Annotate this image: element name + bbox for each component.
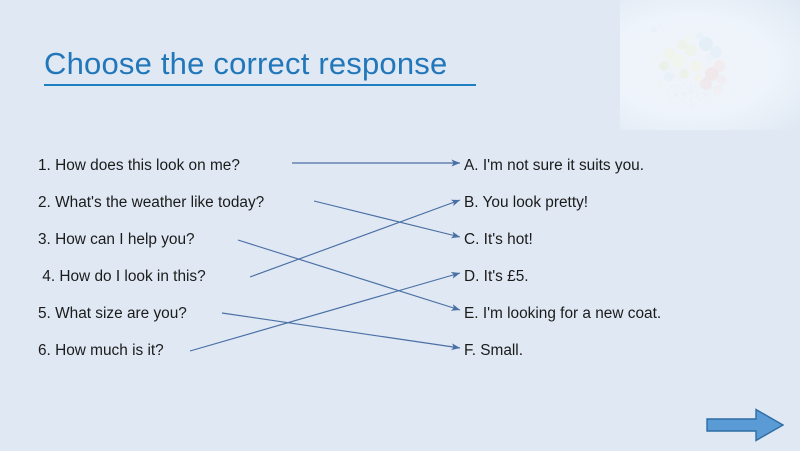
question-item-3[interactable]: 3. How can I help you? bbox=[38, 224, 368, 261]
answer-item-e[interactable]: E. I'm looking for a new coat. bbox=[464, 298, 784, 335]
title-underline bbox=[44, 84, 476, 86]
questions-column: 1. How does this look on me? 2. What's t… bbox=[38, 150, 368, 372]
answer-item-b[interactable]: B. You look pretty! bbox=[464, 187, 784, 224]
answer-item-a[interactable]: A. I'm not sure it suits you. bbox=[464, 150, 784, 187]
slide-canvas: Choose the correct response 1. How does … bbox=[0, 0, 800, 451]
question-item-1[interactable]: 1. How does this look on me? bbox=[38, 150, 368, 187]
answer-item-c[interactable]: C. It's hot! bbox=[464, 224, 784, 261]
page-title: Choose the correct response bbox=[44, 44, 447, 84]
question-item-5[interactable]: 5. What size are you? bbox=[38, 298, 368, 335]
next-arrow-button[interactable] bbox=[706, 408, 784, 442]
answers-column: A. I'm not sure it suits you. B. You loo… bbox=[464, 150, 784, 372]
right-arrow-icon[interactable] bbox=[707, 410, 783, 441]
answer-item-d[interactable]: D. It's £5. bbox=[464, 261, 784, 298]
answer-item-f[interactable]: F. Small. bbox=[464, 335, 784, 372]
question-item-2[interactable]: 2. What's the weather like today? bbox=[38, 187, 368, 224]
question-item-6[interactable]: 6. How much is it? bbox=[38, 335, 368, 372]
flowering-tree-graphic bbox=[636, 14, 746, 114]
question-item-4[interactable]: 4. How do I look in this? bbox=[38, 261, 368, 298]
